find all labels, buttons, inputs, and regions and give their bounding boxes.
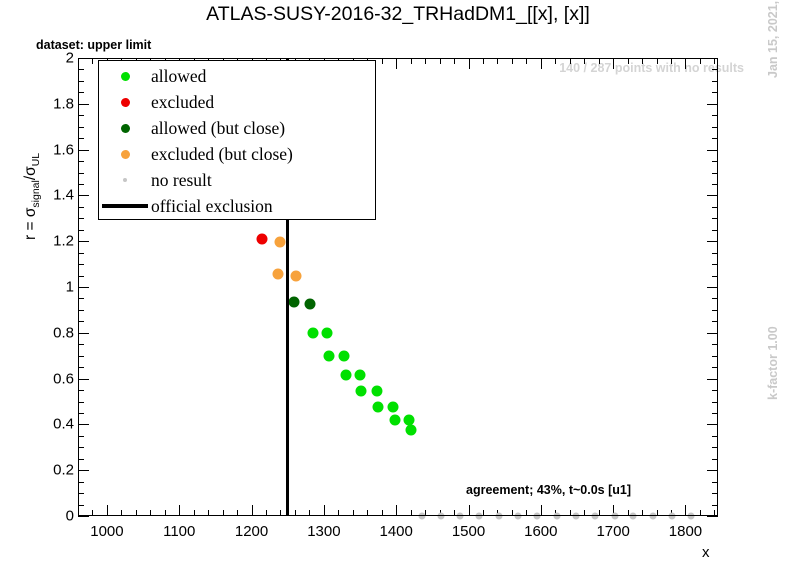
x-tick-label: 1200 xyxy=(235,523,268,540)
y-tick-label: 1.4 xyxy=(44,187,74,204)
legend-marker xyxy=(99,150,151,159)
y-tick-label: 0.6 xyxy=(44,370,74,387)
legend-label: official exclusion xyxy=(151,196,273,217)
y-tick-right xyxy=(707,516,718,517)
legend-row: allowed (but close) xyxy=(99,115,375,141)
official-exclusion-swatch xyxy=(102,204,148,208)
x-tick-label: 1800 xyxy=(669,523,702,540)
x-tick-label: 1500 xyxy=(452,523,485,540)
page-title: ATLAS-SUSY-2016-32_TRHadDM1_[[x], [x]] xyxy=(0,3,796,26)
x-tick-label: 1000 xyxy=(90,523,123,540)
legend-marker xyxy=(99,98,151,107)
legend-row: official exclusion xyxy=(99,193,375,219)
legend-marker xyxy=(99,72,151,81)
y-tick xyxy=(78,516,89,517)
legend-label: no result xyxy=(151,170,212,191)
legend-row: no result xyxy=(99,167,375,193)
x-tick-label: 1300 xyxy=(307,523,340,540)
legend-marker xyxy=(99,124,151,133)
legend-label: excluded (but close) xyxy=(151,144,293,165)
legend-row: allowed xyxy=(99,63,375,89)
legend: allowedexcludedallowed (but close)exclud… xyxy=(98,60,376,220)
x-axis-title: x xyxy=(702,544,710,561)
legend-label: allowed xyxy=(151,66,206,87)
y-tick-label: 2 xyxy=(44,50,74,67)
timestamp-annotation: Jan 15, 2021, 18:51 xyxy=(766,0,780,78)
legend-dot-swatch xyxy=(121,98,130,107)
y-tick-label: 0.4 xyxy=(44,416,74,433)
y-tick-label: 1.2 xyxy=(44,233,74,250)
legend-dot-swatch xyxy=(121,124,130,133)
legend-dot-swatch xyxy=(121,150,130,159)
y-tick-label: 0 xyxy=(44,508,74,525)
y-tick-label: 1.8 xyxy=(44,95,74,112)
x-tick-label: 1700 xyxy=(596,523,629,540)
plot-canvas: ATLAS-SUSY-2016-32_TRHadDM1_[[x], [x]] d… xyxy=(0,0,796,572)
y-tick-label: 0.8 xyxy=(44,324,74,341)
legend-dot-swatch xyxy=(123,178,127,182)
kfactor-annotation: k-factor 1.00 xyxy=(766,326,780,400)
legend-marker xyxy=(99,178,151,182)
x-tick-label: 1100 xyxy=(163,523,195,540)
y-axis-title: r = σsignal/σUL xyxy=(22,153,42,240)
x-tick-label: 1400 xyxy=(380,523,413,540)
y-tick-label: 1.6 xyxy=(44,141,74,158)
legend-row: excluded xyxy=(99,89,375,115)
legend-label: allowed (but close) xyxy=(151,118,285,139)
legend-row: excluded (but close) xyxy=(99,141,375,167)
legend-label: excluded xyxy=(151,92,214,113)
legend-marker xyxy=(99,204,151,208)
y-tick-label: 1 xyxy=(44,279,74,296)
legend-dot-swatch xyxy=(121,72,130,81)
x-tick-label: 1600 xyxy=(524,523,557,540)
y-tick-label: 0.2 xyxy=(44,462,74,479)
